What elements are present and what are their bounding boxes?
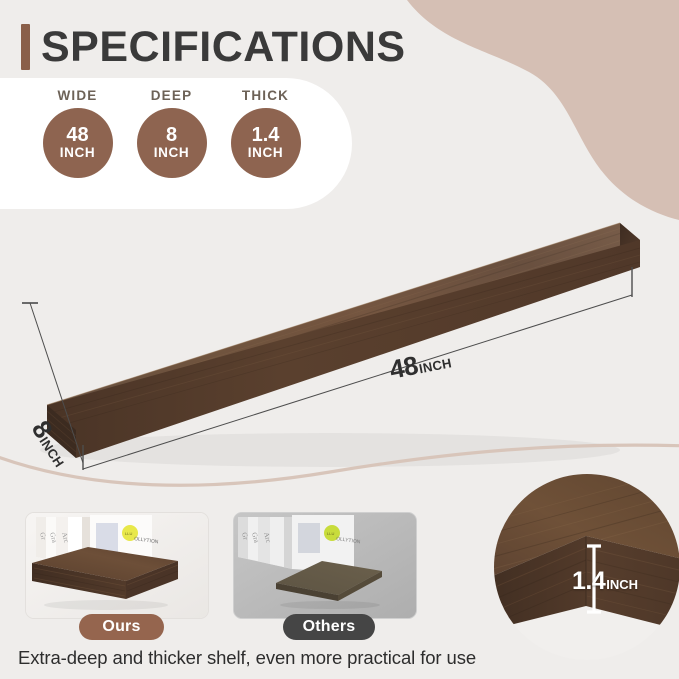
spec-value-thick: 1.4	[252, 125, 280, 145]
comparison-pill-others[interactable]: Others	[283, 614, 375, 640]
specifications-infographic: SPECIFICATIONS WIDE 48 INCH DEEP 8 INCH …	[0, 0, 679, 679]
spec-list: WIDE 48 INCH DEEP 8 INCH THICK 1.4 INCH	[42, 88, 301, 178]
dimension-length-unit: INCH	[418, 355, 453, 376]
bottom-caption: Extra-deep and thicker shelf, even more …	[18, 647, 476, 669]
page-title: SPECIFICATIONS	[41, 19, 406, 75]
spec-item-deep: DEEP 8 INCH	[136, 88, 207, 178]
spec-label-wide: WIDE	[57, 88, 97, 103]
spec-unit-wide: INCH	[60, 145, 95, 161]
svg-text:LLU: LLU	[125, 531, 132, 536]
spec-value-wide: 48	[66, 125, 88, 145]
spec-circle-thick: 1.4 INCH	[231, 108, 301, 178]
comparison-panel-others: LLU OLLYTION Gr Gra Arc	[233, 512, 417, 619]
thickness-unit: INCH	[606, 577, 638, 592]
spec-value-deep: 8	[166, 125, 177, 145]
title-accent-bar	[21, 24, 30, 70]
thickness-value: 1.4	[572, 567, 605, 596]
spec-label-deep: DEEP	[151, 88, 193, 103]
decorative-blob	[379, 0, 679, 230]
hero-shelf-image	[0, 205, 679, 470]
spec-label-thick: THICK	[242, 88, 289, 103]
dimension-length-value: 48	[387, 350, 420, 386]
comparison-pill-ours[interactable]: Ours	[79, 614, 164, 640]
spec-item-wide: WIDE 48 INCH	[42, 88, 113, 178]
spec-circle-wide: 48 INCH	[43, 108, 113, 178]
svg-text:LLU: LLU	[327, 531, 334, 536]
thickness-callout-label: 1.4 INCH	[572, 567, 638, 596]
spec-item-thick: THICK 1.4 INCH	[230, 88, 301, 178]
spec-unit-deep: INCH	[154, 145, 189, 161]
spec-unit-thick: INCH	[248, 145, 283, 161]
comparison-panel-ours: LLU OLLYTION Gr Gra Arc	[25, 512, 209, 619]
spec-circle-deep: 8 INCH	[137, 108, 207, 178]
